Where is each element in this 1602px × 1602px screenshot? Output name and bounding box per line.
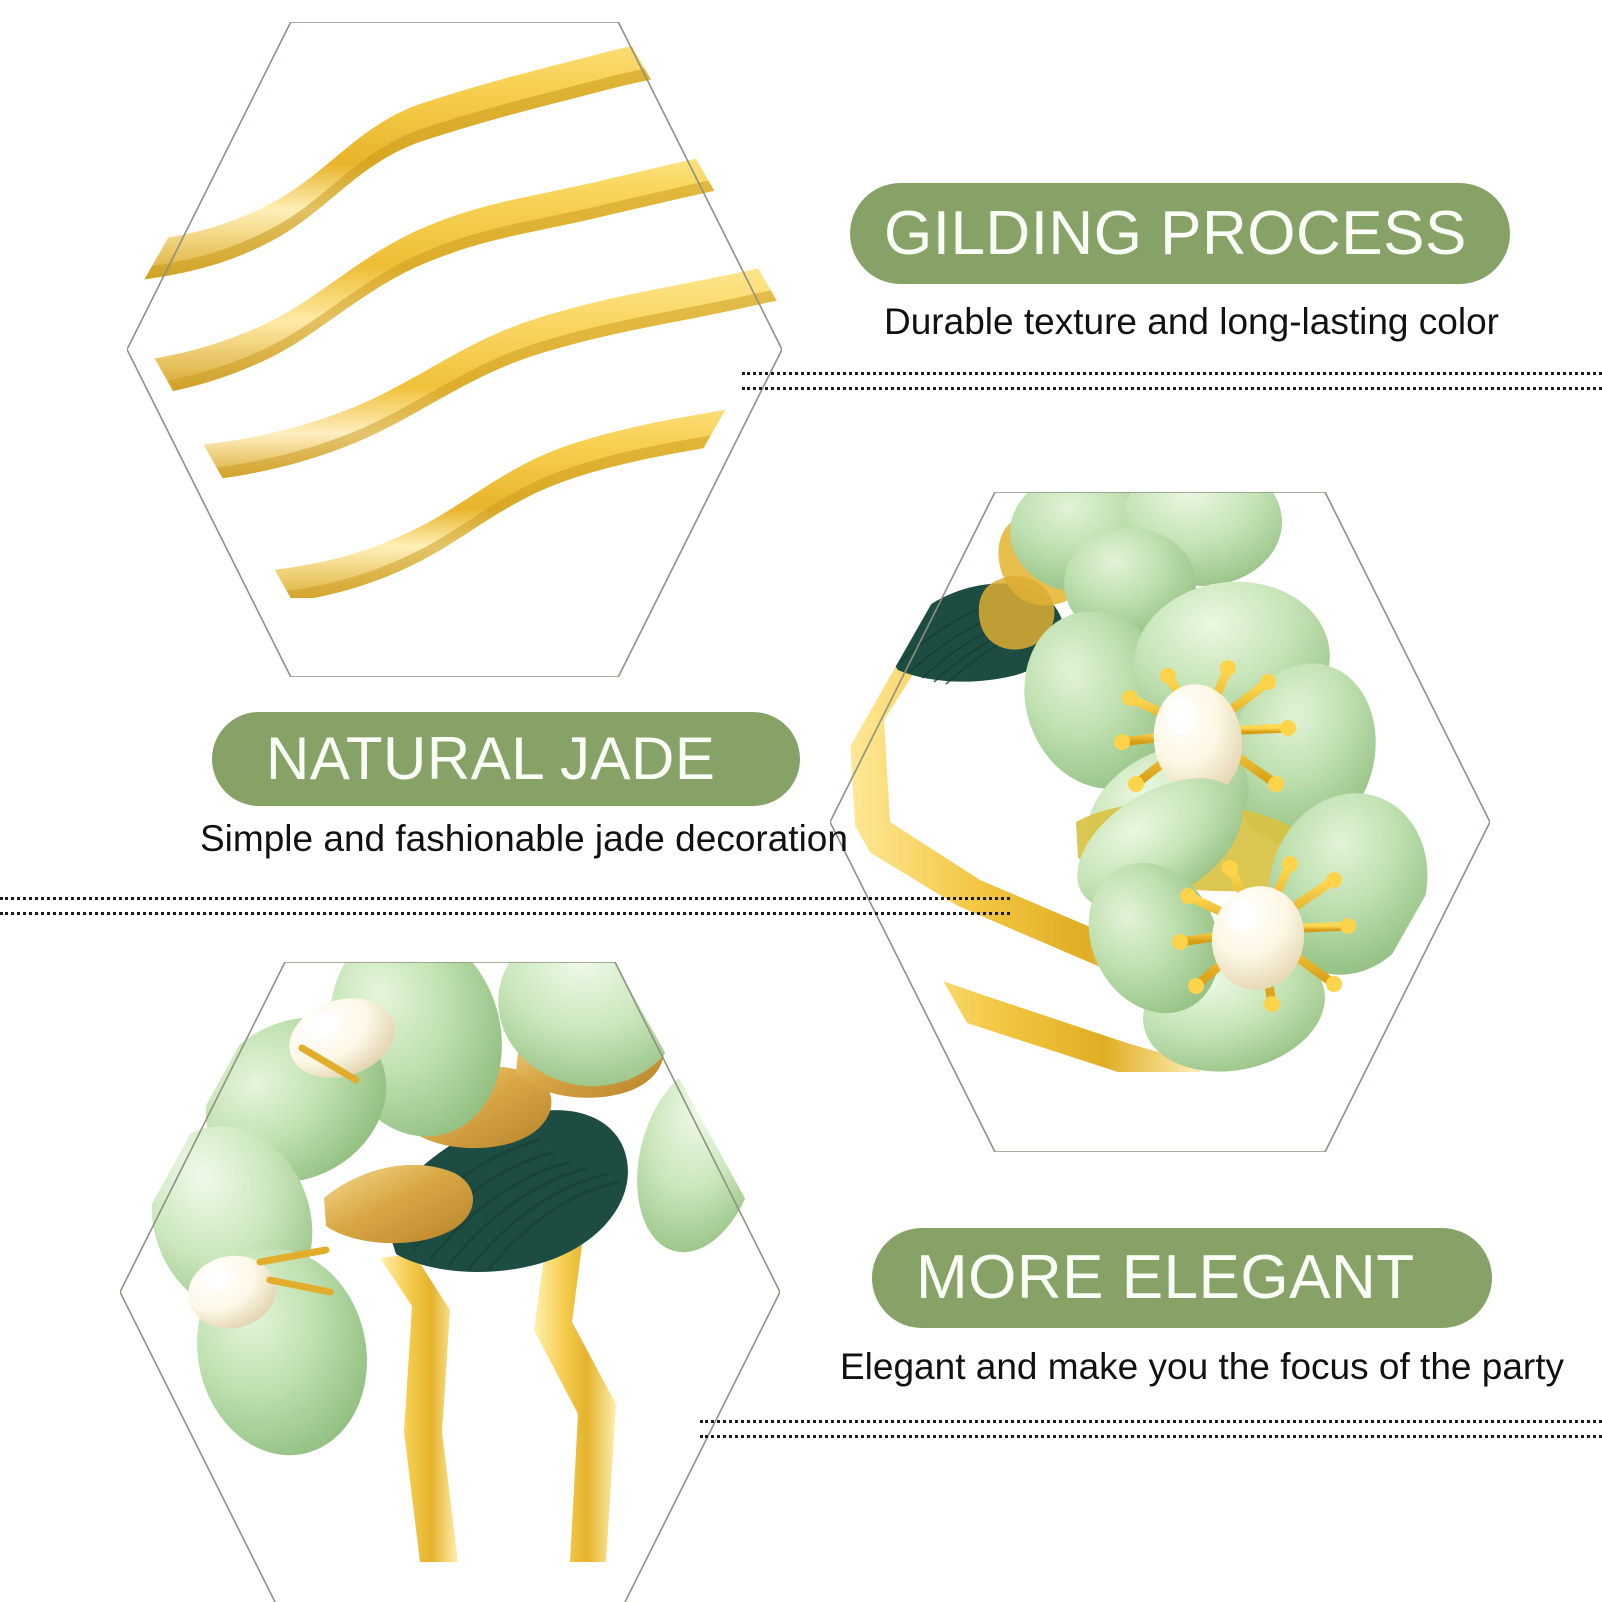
photo-jade-detail [120, 962, 780, 1562]
photo-jade-detail-clip [120, 962, 780, 1562]
divider-middle [0, 897, 1010, 915]
badge-label-more-elegant: MORE ELEGANT [916, 1247, 1415, 1309]
subtitle-natural-jade: Simple and fashionable jade decoration [200, 820, 848, 857]
jade-flowers-scene [830, 492, 1490, 1072]
gold-wavy-bars-scene [127, 22, 782, 598]
badge-label-natural-jade: NATURAL JADE [266, 729, 715, 789]
gold-prong-left [380, 1254, 458, 1562]
infographic-page: GILDING PROCESS Durable texture and long… [0, 0, 1602, 1602]
jade-flowers-illustration [830, 492, 1490, 1072]
photo-jade-flowers-clip [830, 492, 1490, 1072]
photo-gilding-clip [127, 22, 782, 598]
badge-gilding-process[interactable]: GILDING PROCESS [850, 183, 1510, 284]
photo-gilding-process [127, 22, 782, 598]
jade-detail-scene [120, 962, 780, 1562]
pearl-upper-highlight [1168, 698, 1196, 734]
jade-detail-illustration [120, 962, 780, 1562]
pearl-detail-top-highlight [308, 1013, 340, 1035]
subtitle-gilding-process: Durable texture and long-lasting color [884, 303, 1499, 340]
pearl-detail-lower-highlight [205, 1270, 231, 1290]
badge-label-gilding-process: GILDING PROCESS [884, 203, 1467, 265]
divider-top [742, 372, 1602, 390]
badge-more-elegant[interactable]: MORE ELEGANT [872, 1228, 1492, 1328]
gold-wavy-bars-illustration [127, 22, 782, 598]
photo-jade-flowers [830, 492, 1490, 1072]
subtitle-more-elegant: Elegant and make you the focus of the pa… [840, 1348, 1564, 1385]
gold-bar-4 [216, 384, 782, 598]
badge-natural-jade[interactable]: NATURAL JADE [212, 712, 800, 806]
pearl-lower-highlight [1228, 899, 1256, 933]
divider-bottom [700, 1420, 1602, 1438]
